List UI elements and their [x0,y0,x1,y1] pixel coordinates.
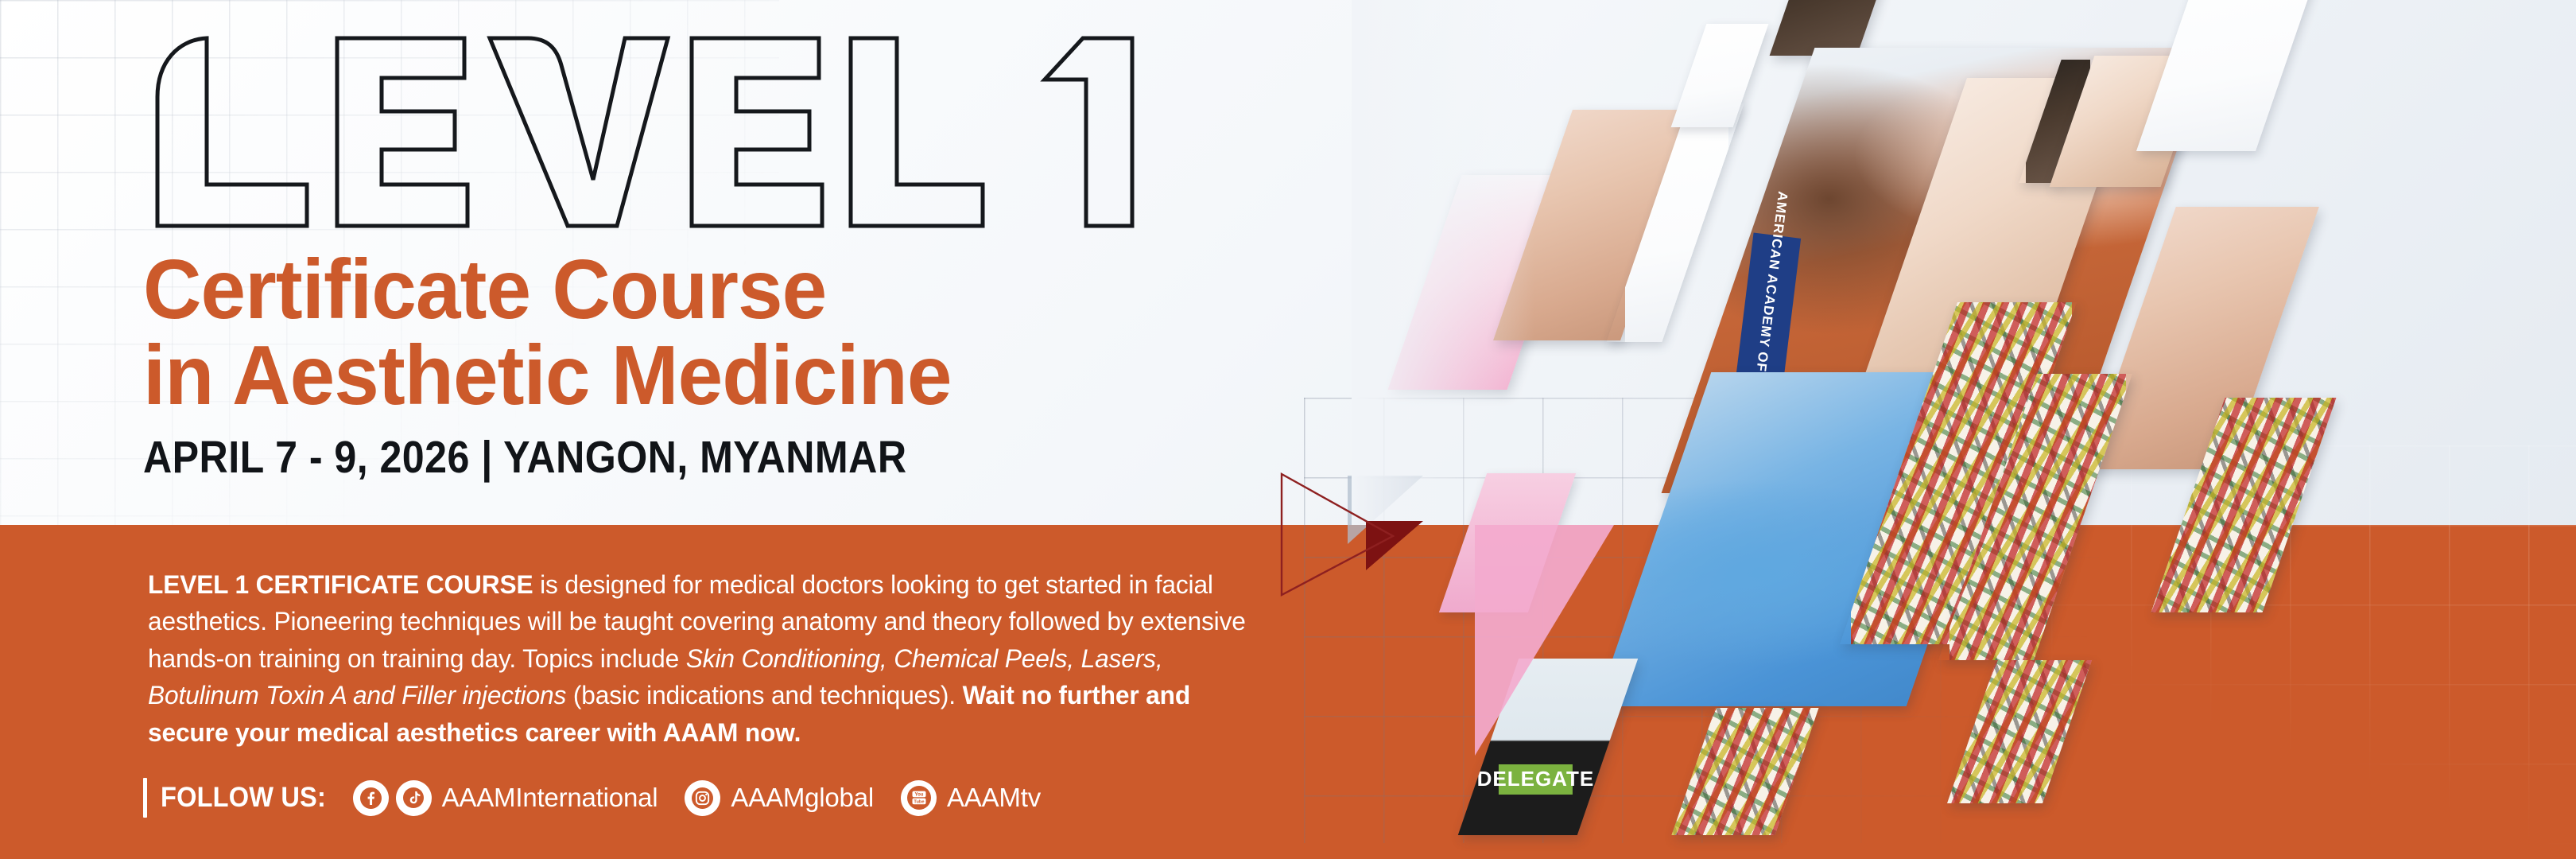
social-account-international[interactable]: AAAMInternational [353,780,658,816]
handle-aaamglobal[interactable]: AAAMglobal [731,783,874,813]
subtitle-line-1: Certificate Course [143,247,1250,332]
subtitle-line-2: in Aesthetic Medicine [143,332,1250,418]
svg-text:You: You [914,791,923,797]
tiktok-icon[interactable] [396,780,432,816]
social-account-global[interactable]: AAAMglobal [685,780,874,816]
instagram-icon[interactable] [685,780,720,816]
youtube-icon[interactable]: You Tube [901,780,937,816]
triangle-outline-left [1278,471,1398,598]
facebook-icon[interactable] [353,780,389,816]
level-1-wordmark [143,29,1169,235]
delegate-badge-tag: DELEGATE [1499,764,1573,795]
delegate-badge-label: DELEGATE [1477,768,1595,792]
date-location-line: APRIL 7 - 9, 2026 | YANGON, MYANMAR [143,431,1158,484]
handle-aaaminternational[interactable]: AAAMInternational [442,783,658,813]
body-paragraph: LEVEL 1 CERTIFICATE COURSE is designed f… [148,566,1256,751]
svg-text:Tube: Tube [914,799,924,804]
collage-slice-fabric-4 [1947,660,2092,803]
body-lead-bold: LEVEL 1 CERTIFICATE COURSE [148,570,533,599]
follow-us-label: FOLLOW US: [161,782,326,814]
handle-aaamtv[interactable]: AAAMtv [947,783,1041,813]
collage-slice-clinic-bg [2136,0,2324,151]
collage-slice-fabric-5 [1671,708,1818,835]
pink-triangle-decoration [1475,525,1614,756]
follow-divider-rule [143,778,147,818]
promo-banner: AMERICAN ACADEMY OF AESTHETIC MEDICINE [0,0,2576,859]
follow-us-bar: FOLLOW US: AAAMInternational [143,778,1068,818]
social-account-tv[interactable]: You Tube AAAMtv [901,780,1041,816]
body-text-2: (basic indications and techniques). [566,681,962,709]
headline-block: Certificate Course in Aesthetic Medicine… [143,29,1296,484]
body-copy-block: LEVEL 1 CERTIFICATE COURSE is designed f… [148,566,1285,751]
collage-slice-white-top [1671,24,1769,127]
